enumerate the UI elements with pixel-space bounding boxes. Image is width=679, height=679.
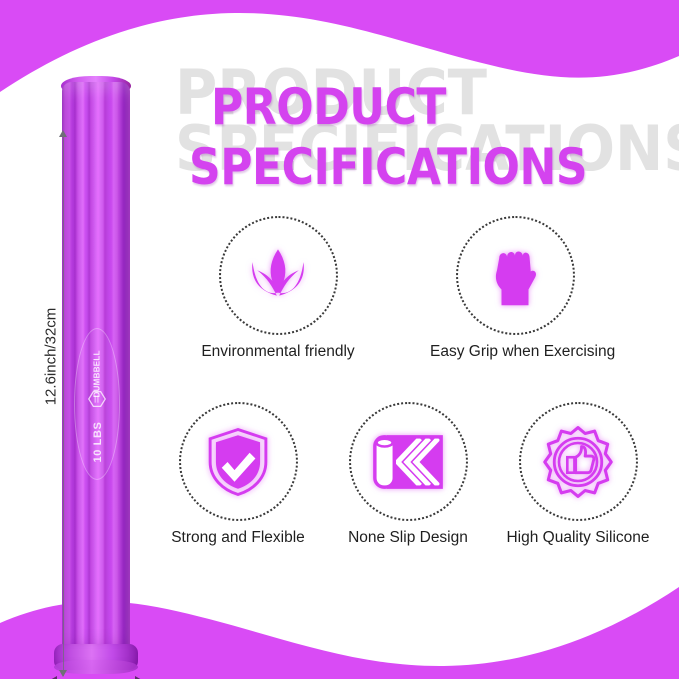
feature-icon-circle: [349, 402, 468, 521]
feature-icon-circle: [179, 402, 298, 521]
height-dimension-line: [63, 136, 64, 676]
feature-label: High Quality Silicone: [493, 529, 663, 547]
quality-badge-thumbsup-icon: [540, 424, 616, 500]
feature-item-environmental-friendly: Environmental friendly: [193, 216, 363, 361]
feature-list: Environmental friendly Easy Grip when Ex…: [160, 216, 679, 576]
feature-label: Easy Grip when Exercising: [430, 343, 600, 361]
page-title: PRODUCT SPECIFICATIONS PRODUCT SPECIFICA…: [175, 56, 675, 206]
height-arrow-bottom-icon: [59, 670, 67, 677]
product-illustration: DUMBBELL 10 LBS 12.6inch/32cm 1.4inch/3.…: [26, 58, 176, 658]
feature-label: None Slip Design: [323, 529, 493, 547]
shield-check-icon: [204, 426, 272, 498]
feature-icon-circle: [219, 216, 338, 335]
feature-item-none-slip-design: None Slip Design: [323, 402, 493, 547]
feature-icon-circle: [456, 216, 575, 335]
bar-weight-label: 10 LBS: [92, 414, 104, 470]
rolled-mat-chevron-icon: [370, 430, 446, 494]
feature-item-easy-grip: Easy Grip when Exercising: [430, 216, 600, 361]
feature-item-high-quality-silicone: High Quality Silicone: [493, 402, 663, 547]
height-dimension-label: 12.6inch/32cm: [43, 297, 60, 417]
feature-label: Strong and Flexible: [153, 529, 323, 547]
leaf-plant-icon: [241, 239, 315, 313]
bar-brand-text: DUMBBELL: [93, 364, 102, 398]
product-specifications-infographic: DUMBBELL 10 LBS 12.6inch/32cm 1.4inch/3.…: [0, 0, 679, 679]
feature-icon-circle: [519, 402, 638, 521]
feature-label: Environmental friendly: [193, 343, 363, 361]
feature-item-strong-flexible: Strong and Flexible: [153, 402, 323, 547]
title-line-1: PRODUCT: [211, 82, 446, 132]
title-line-2: SPECIFICATIONS: [189, 142, 587, 192]
fist-grip-icon: [480, 240, 550, 312]
